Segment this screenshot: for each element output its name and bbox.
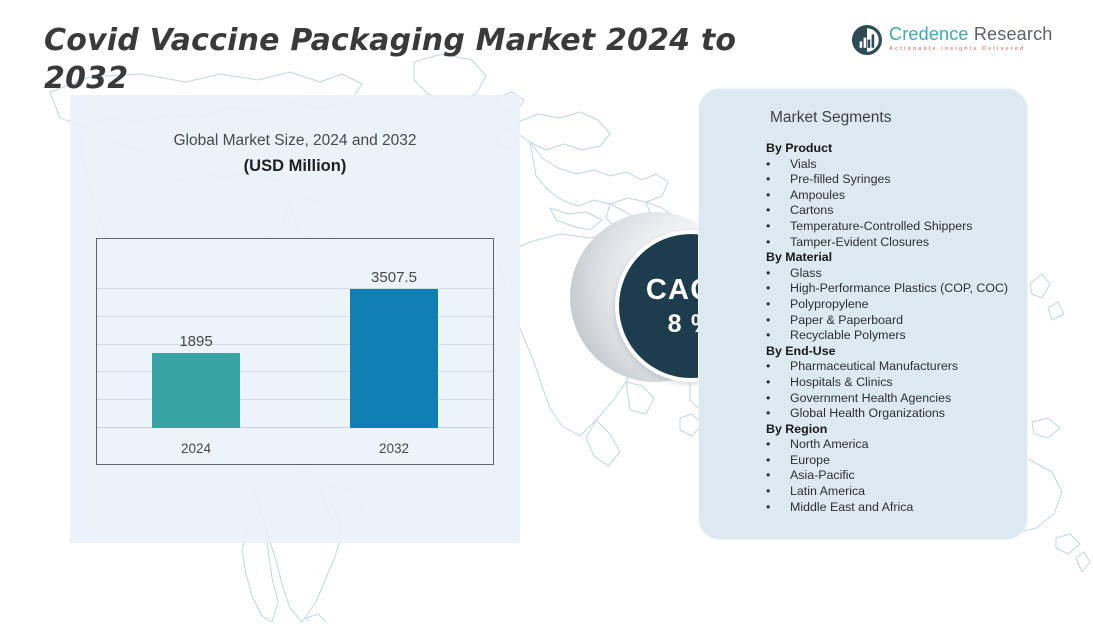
category-label-2024: 2024 [126, 441, 266, 456]
logo-name-research: Research [969, 24, 1053, 44]
bullet-icon: • [766, 266, 790, 282]
bullet-icon: • [766, 406, 790, 422]
bullet-icon: • [766, 468, 790, 484]
segment-item-label: Asia-Pacific [790, 468, 1018, 484]
segment-list-item: •Glass [766, 266, 1018, 282]
bar-2024 [152, 353, 240, 428]
segment-item-label: Glass [790, 266, 1018, 282]
segment-list-item: •Polypropylene [766, 297, 1018, 313]
bullet-icon: • [766, 188, 790, 204]
credence-research-logo: Credence Research Actionable Insights De… [852, 24, 1037, 62]
bullet-icon: • [766, 359, 790, 375]
segment-item-label: Recyclable Polymers [790, 328, 1018, 344]
market-segments-title: Market Segments [770, 108, 891, 128]
segment-list-item: •Asia-Pacific [766, 468, 1018, 484]
segment-item-label: Middle East and Africa [790, 500, 1018, 516]
segment-item-label: Pre-filled Syringes [790, 172, 1018, 188]
segment-group-title: By Region [766, 422, 1018, 438]
segment-list-item: •Latin America [766, 484, 1018, 500]
chart-heading-line-1: Global Market Size, 2024 and 2032 [70, 130, 520, 152]
segment-list-item: •Paper & Paperboard [766, 313, 1018, 329]
segment-group-title: By Product [766, 141, 1018, 157]
bullet-icon: • [766, 484, 790, 500]
bar-2032 [350, 289, 438, 428]
segment-item-label: Ampoules [790, 188, 1018, 204]
bar-value-label-2024: 1895 [126, 333, 266, 350]
bullet-icon: • [766, 328, 790, 344]
bullet-icon: • [766, 235, 790, 251]
segment-list-item: •Global Health Organizations [766, 406, 1018, 422]
bar-chart-circle-logo-icon [852, 25, 882, 55]
bullet-icon: • [766, 157, 790, 173]
bullet-icon: • [766, 172, 790, 188]
bullet-icon: • [766, 375, 790, 391]
segment-item-label: High-Performance Plastics (COP, COC) [790, 281, 1018, 297]
bullet-icon: • [766, 500, 790, 516]
segment-list-item: •Ampoules [766, 188, 1018, 204]
segment-list-item: •Government Health Agencies [766, 391, 1018, 407]
segment-list-item: •Vials [766, 157, 1018, 173]
segment-list-item: •Recyclable Polymers [766, 328, 1018, 344]
bullet-icon: • [766, 313, 790, 329]
segment-list-item: •Pharmaceutical Manufacturers [766, 359, 1018, 375]
segment-list-item: •Temperature-Controlled Shippers [766, 219, 1018, 235]
segment-list-item: •North America [766, 437, 1018, 453]
bullet-icon: • [766, 203, 790, 219]
segment-item-label: Hospitals & Clinics [790, 375, 1018, 391]
logo-wordmark: Credence Research Actionable Insights De… [889, 24, 1053, 53]
segment-item-label: Pharmaceutical Manufacturers [790, 359, 1018, 375]
segment-item-label: Paper & Paperboard [790, 313, 1018, 329]
segment-group-title: By Material [766, 250, 1018, 266]
infographic-root: Covid Vaccine Packaging Market 2024 to 2… [0, 0, 1093, 633]
logo-name-credence: Credence [889, 24, 969, 44]
logo-company-name: Credence Research [889, 24, 1053, 44]
segment-item-label: Temperature-Controlled Shippers [790, 219, 1018, 235]
bullet-icon: • [766, 281, 790, 297]
segment-list-item: •High-Performance Plastics (COP, COC) [766, 281, 1018, 297]
segment-list-item: •Europe [766, 453, 1018, 469]
segment-list-item: •Middle East and Africa [766, 500, 1018, 516]
segment-item-label: Europe [790, 453, 1018, 469]
chart-heading: Global Market Size, 2024 and 2032 (USD M… [70, 130, 520, 178]
segment-item-label: Tamper-Evident Closures [790, 235, 1018, 251]
segment-item-label: Latin America [790, 484, 1018, 500]
segment-list-item: •Hospitals & Clinics [766, 375, 1018, 391]
segment-item-label: Global Health Organizations [790, 406, 1018, 422]
bullet-icon: • [766, 437, 790, 453]
category-label-2032: 2032 [324, 441, 464, 456]
bar-chart-plot-area: 189520243507.52032 [96, 238, 494, 465]
bullet-icon: • [766, 453, 790, 469]
bar-value-label-2032: 3507.5 [324, 269, 464, 286]
segment-item-label: Government Health Agencies [790, 391, 1018, 407]
logo-tagline: Actionable Insights Delivered [889, 46, 1053, 53]
segment-item-label: North America [790, 437, 1018, 453]
segment-item-label: Vials [790, 157, 1018, 173]
segment-item-label: Polypropylene [790, 297, 1018, 313]
segment-list-item: •Pre-filled Syringes [766, 172, 1018, 188]
page-title: Covid Vaccine Packaging Market 2024 to 2… [44, 22, 814, 98]
bullet-icon: • [766, 219, 790, 235]
bullet-icon: • [766, 297, 790, 313]
segment-list-item: •Cartons [766, 203, 1018, 219]
segment-item-label: Cartons [790, 203, 1018, 219]
segment-group-title: By End-Use [766, 344, 1018, 360]
chart-heading-line-2: (USD Million) [70, 154, 520, 178]
bullet-icon: • [766, 391, 790, 407]
segment-list-item: •Tamper-Evident Closures [766, 235, 1018, 251]
market-segments-list: By Product•Vials•Pre-filled Syringes•Amp… [766, 141, 1018, 515]
